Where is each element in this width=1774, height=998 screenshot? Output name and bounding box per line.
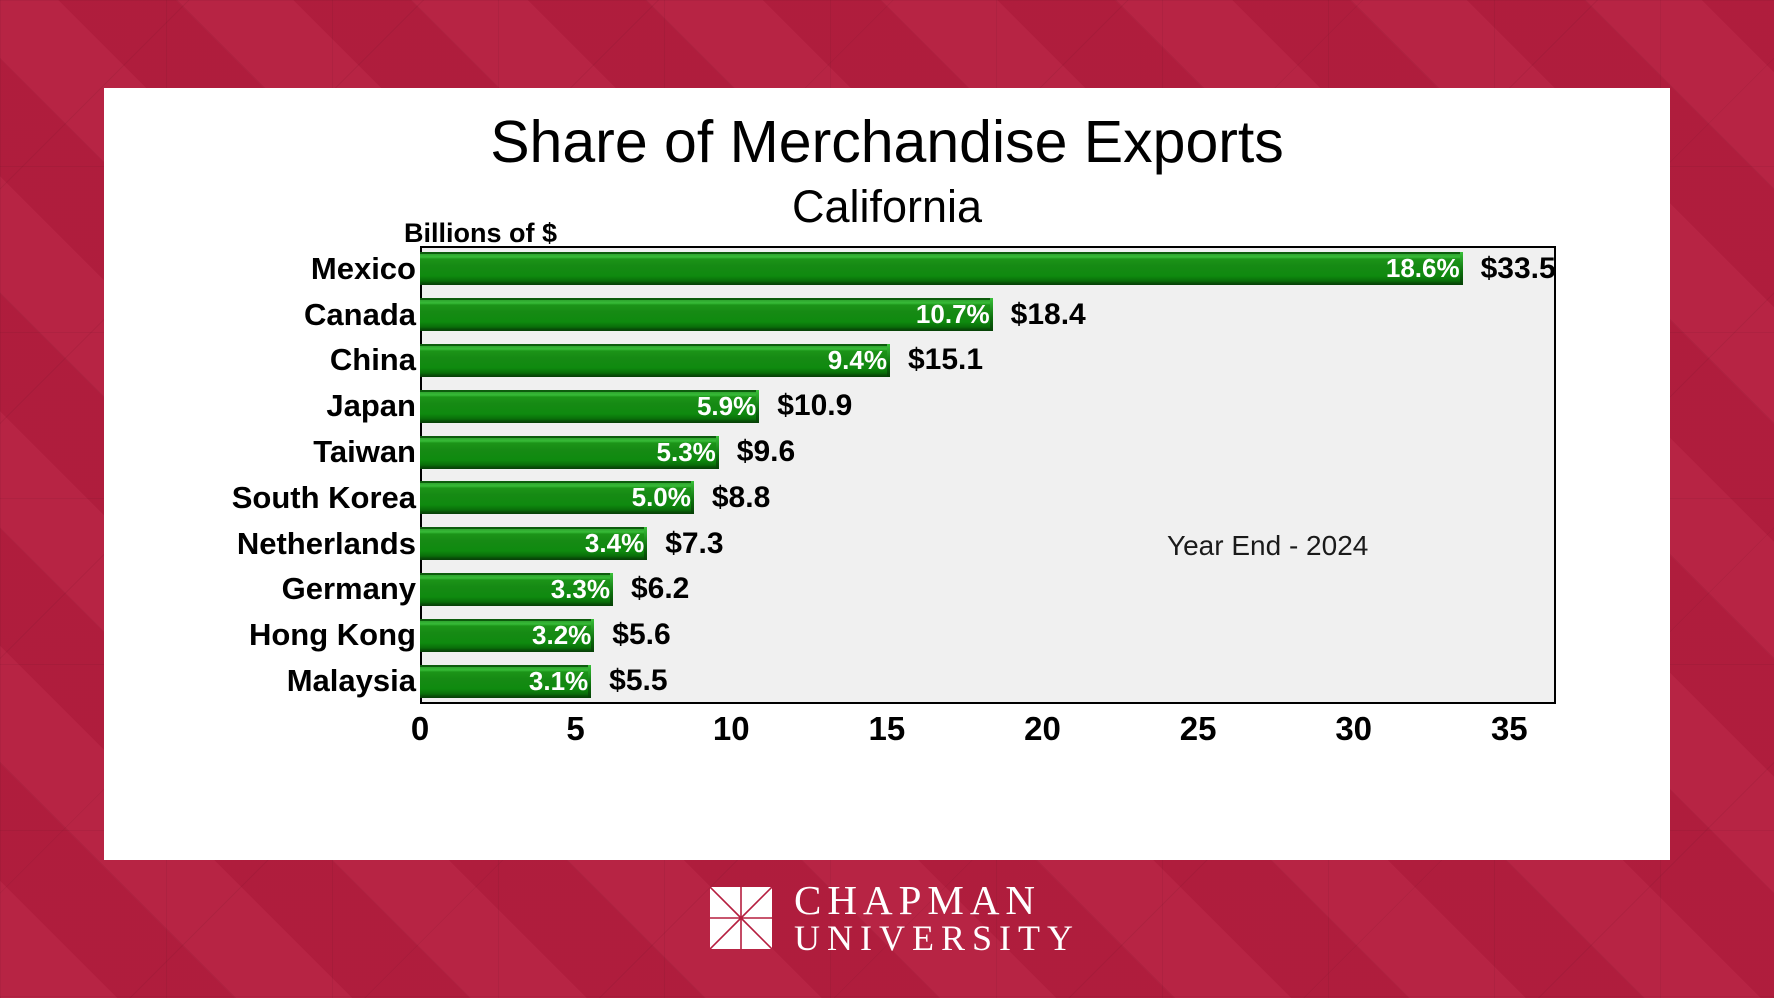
bar-row: Mexico18.6%$33.5 <box>420 246 1556 292</box>
chart-subtitle: California <box>104 184 1670 229</box>
bar: 3.1% <box>420 665 591 698</box>
bar-percent-label: 5.0% <box>632 482 691 513</box>
x-axis-tick: 35 <box>1491 710 1528 748</box>
bar-row: Canada10.7%$18.4 <box>420 292 1556 338</box>
bar-row: Japan5.9%$10.9 <box>420 383 1556 429</box>
bar-percent-label: 5.3% <box>657 437 716 468</box>
bar-value-label: $5.5 <box>597 664 667 698</box>
bar-row: Germany3.3%$6.2 <box>420 567 1556 613</box>
axis-unit-label: Billions of $ <box>404 218 557 249</box>
x-axis-tick: 5 <box>566 710 584 748</box>
bar-value-label: $6.2 <box>619 572 689 606</box>
bar-value-label: $8.8 <box>700 481 770 515</box>
category-label: Japan <box>326 388 416 424</box>
logo-name-bottom: UNIVERSITY <box>794 920 1080 956</box>
bar-percent-label: 18.6% <box>1386 253 1460 284</box>
bar-percent-label: 3.2% <box>532 620 591 651</box>
chapman-wordmark: CHAPMAN UNIVERSITY <box>794 880 1080 956</box>
bar: 3.4% <box>420 527 647 560</box>
bar-percent-label: 3.3% <box>551 574 610 605</box>
bar-value-label: $10.9 <box>765 389 852 423</box>
bar: 5.0% <box>420 481 694 514</box>
category-label: South Korea <box>232 480 416 516</box>
bar-percent-label: 5.9% <box>697 391 756 422</box>
bar: 9.4% <box>420 344 890 377</box>
category-label: Mexico <box>311 251 416 287</box>
x-axis-tick: 30 <box>1335 710 1372 748</box>
logo-name-top: CHAPMAN <box>794 880 1080 920</box>
chapman-logo: CHAPMAN UNIVERSITY <box>710 880 1080 956</box>
bar: 18.6% <box>420 252 1463 285</box>
bar-value-label: $9.6 <box>725 435 795 469</box>
bar-value-label: $5.6 <box>600 618 670 652</box>
bar-row: Hong Kong3.2%$5.6 <box>420 612 1556 658</box>
bar-row: China9.4%$15.1 <box>420 338 1556 384</box>
x-axis-tick: 25 <box>1180 710 1217 748</box>
bar: 5.3% <box>420 436 719 469</box>
slide: Share of Merchandise Exports California … <box>0 0 1774 998</box>
bar-row: South Korea5.0%$8.8 <box>420 475 1556 521</box>
category-label: Malaysia <box>287 663 416 699</box>
x-axis: 05101520253035 <box>420 710 1556 760</box>
bar-percent-label: 3.4% <box>585 528 644 559</box>
category-label: Netherlands <box>237 526 416 562</box>
bar-value-label: $18.4 <box>999 298 1086 332</box>
bar-rows: Mexico18.6%$33.5Canada10.7%$18.4China9.4… <box>420 246 1556 704</box>
bar-row: Netherlands3.4%$7.3 <box>420 521 1556 567</box>
category-label: Germany <box>282 571 416 607</box>
bar-value-label: $33.5 <box>1469 252 1556 286</box>
bar: 3.3% <box>420 573 613 606</box>
bar: 5.9% <box>420 390 759 423</box>
chart-card: Share of Merchandise Exports California … <box>104 88 1670 860</box>
category-label: China <box>330 342 416 378</box>
x-axis-tick: 10 <box>713 710 750 748</box>
bar-percent-label: 3.1% <box>529 666 588 697</box>
bar-percent-label: 9.4% <box>828 345 887 376</box>
x-axis-tick: 15 <box>868 710 905 748</box>
bar: 3.2% <box>420 619 594 652</box>
bar: 10.7% <box>420 298 993 331</box>
bar-row: Malaysia3.1%$5.5 <box>420 658 1556 704</box>
x-axis-tick: 0 <box>411 710 429 748</box>
category-label: Taiwan <box>313 434 416 470</box>
page-title: Share of Merchandise Exports <box>104 113 1670 172</box>
bar-row: Taiwan5.3%$9.6 <box>420 429 1556 475</box>
chapman-pinwheel-icon <box>710 887 772 949</box>
category-label: Canada <box>304 297 416 333</box>
bar-value-label: $15.1 <box>896 343 983 377</box>
category-label: Hong Kong <box>249 617 416 653</box>
bar-value-label: $7.3 <box>653 527 723 561</box>
bar-percent-label: 10.7% <box>916 299 990 330</box>
x-axis-tick: 20 <box>1024 710 1061 748</box>
